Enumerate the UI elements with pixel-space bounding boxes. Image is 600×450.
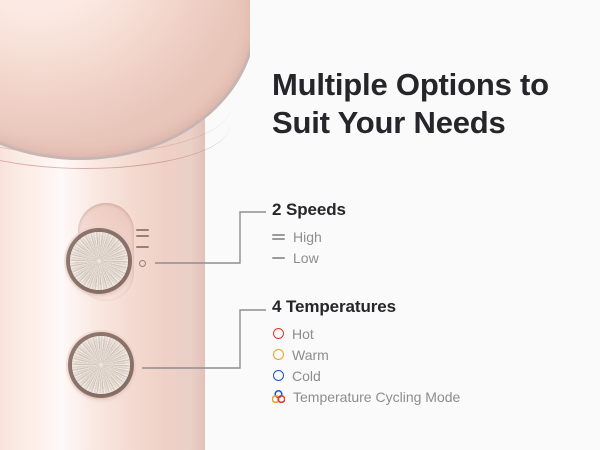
page-title: Multiple Options to Suit Your Needs: [272, 66, 582, 142]
section-temperatures: 4 Temperatures Hot Warm Cold Temperature…: [272, 297, 460, 407]
product-image-hair-dryer: [0, 0, 250, 450]
speed-dial[interactable]: [70, 232, 128, 290]
circle-outline-icon-cold: [273, 370, 284, 381]
promo-banner: Multiple Options to Suit Your Needs 2 Sp…: [0, 0, 600, 450]
list-item-speed-high: High: [272, 226, 346, 247]
list-item-speed-low: Low: [272, 247, 346, 268]
temperature-dial[interactable]: [72, 336, 130, 394]
speed-high-label: High: [293, 229, 322, 245]
temperature-hot-label: Hot: [292, 326, 314, 342]
section-speeds: 2 Speeds High Low: [272, 200, 346, 268]
circle-outline-icon-warm: [273, 349, 284, 360]
speed-mark-bar: [136, 229, 149, 231]
section-temperatures-title: 4 Temperatures: [272, 297, 460, 317]
speed-indicator-marks: [136, 228, 154, 276]
list-item-temperature-hot: Hot: [272, 323, 460, 344]
circle-outline-icon-hot: [273, 328, 284, 339]
list-item-temperature-cycling: Temperature Cycling Mode: [272, 386, 460, 407]
speed-mark-bar: [136, 246, 149, 248]
speed-low-label: Low: [293, 250, 319, 266]
section-speeds-title: 2 Speeds: [272, 200, 346, 220]
headline-line-2: Suit Your Needs: [272, 104, 582, 142]
temperature-warm-label: Warm: [292, 347, 329, 363]
tri-circle-cycling-icon: [272, 390, 285, 403]
single-bar-icon: [272, 251, 285, 264]
double-bar-icon: [272, 230, 285, 243]
list-item-temperature-cold: Cold: [272, 365, 460, 386]
temperature-cold-label: Cold: [292, 368, 321, 384]
headline-line-1: Multiple Options to: [272, 66, 582, 104]
temperature-cycling-label: Temperature Cycling Mode: [293, 389, 460, 405]
speed-mark-dot-icon: [139, 260, 146, 267]
speed-mark-bar: [136, 235, 149, 237]
list-item-temperature-warm: Warm: [272, 344, 460, 365]
